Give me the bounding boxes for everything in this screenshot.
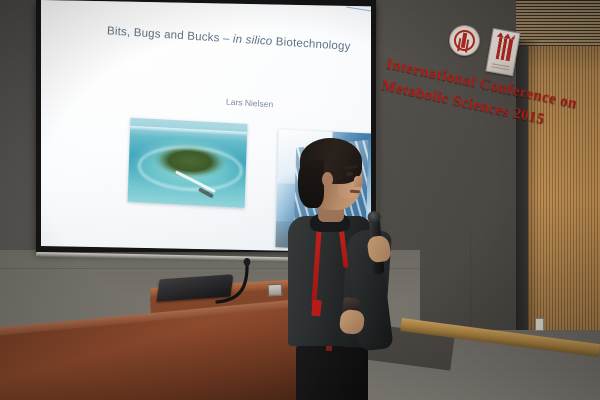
speaker-hair-back	[298, 160, 324, 208]
slide-title: Bits, Bugs and Bucks – in silico Biotech…	[107, 25, 371, 56]
island-reef-foam	[137, 143, 243, 193]
wall-outlet-plate	[535, 318, 544, 331]
wall-seam-vertical	[470, 230, 471, 330]
slide-title-prefix: Bits, Bugs and Bucks –	[107, 25, 233, 45]
microphone-head	[367, 211, 381, 224]
plaque-caption-lines	[491, 62, 510, 70]
small-desk-device	[268, 284, 283, 297]
speaker-mouth	[350, 190, 360, 194]
island-horizon-line	[130, 126, 247, 136]
speaker-ear	[322, 172, 333, 187]
gooseneck-microphone-icon	[214, 258, 258, 304]
left-wall-strip	[0, 0, 36, 268]
speaker-figure	[282, 138, 412, 400]
slide-photo-island	[128, 118, 248, 208]
speaker-nose	[354, 176, 363, 187]
slide-title-italic: in silico	[233, 33, 273, 48]
speaker-lanyard-badge	[311, 300, 322, 317]
slide-accent-line	[346, 7, 371, 18]
speaker-eye	[346, 172, 353, 176]
slide-subtitle-author: Lars Nielsen	[226, 97, 274, 110]
speaker-trousers	[296, 340, 368, 400]
slide-title-suffix: Biotechnology	[272, 36, 351, 53]
conference-photo-scene: Bits, Bugs and Bucks – in silico Biotech…	[0, 0, 600, 400]
plaque-emblem	[494, 37, 514, 61]
